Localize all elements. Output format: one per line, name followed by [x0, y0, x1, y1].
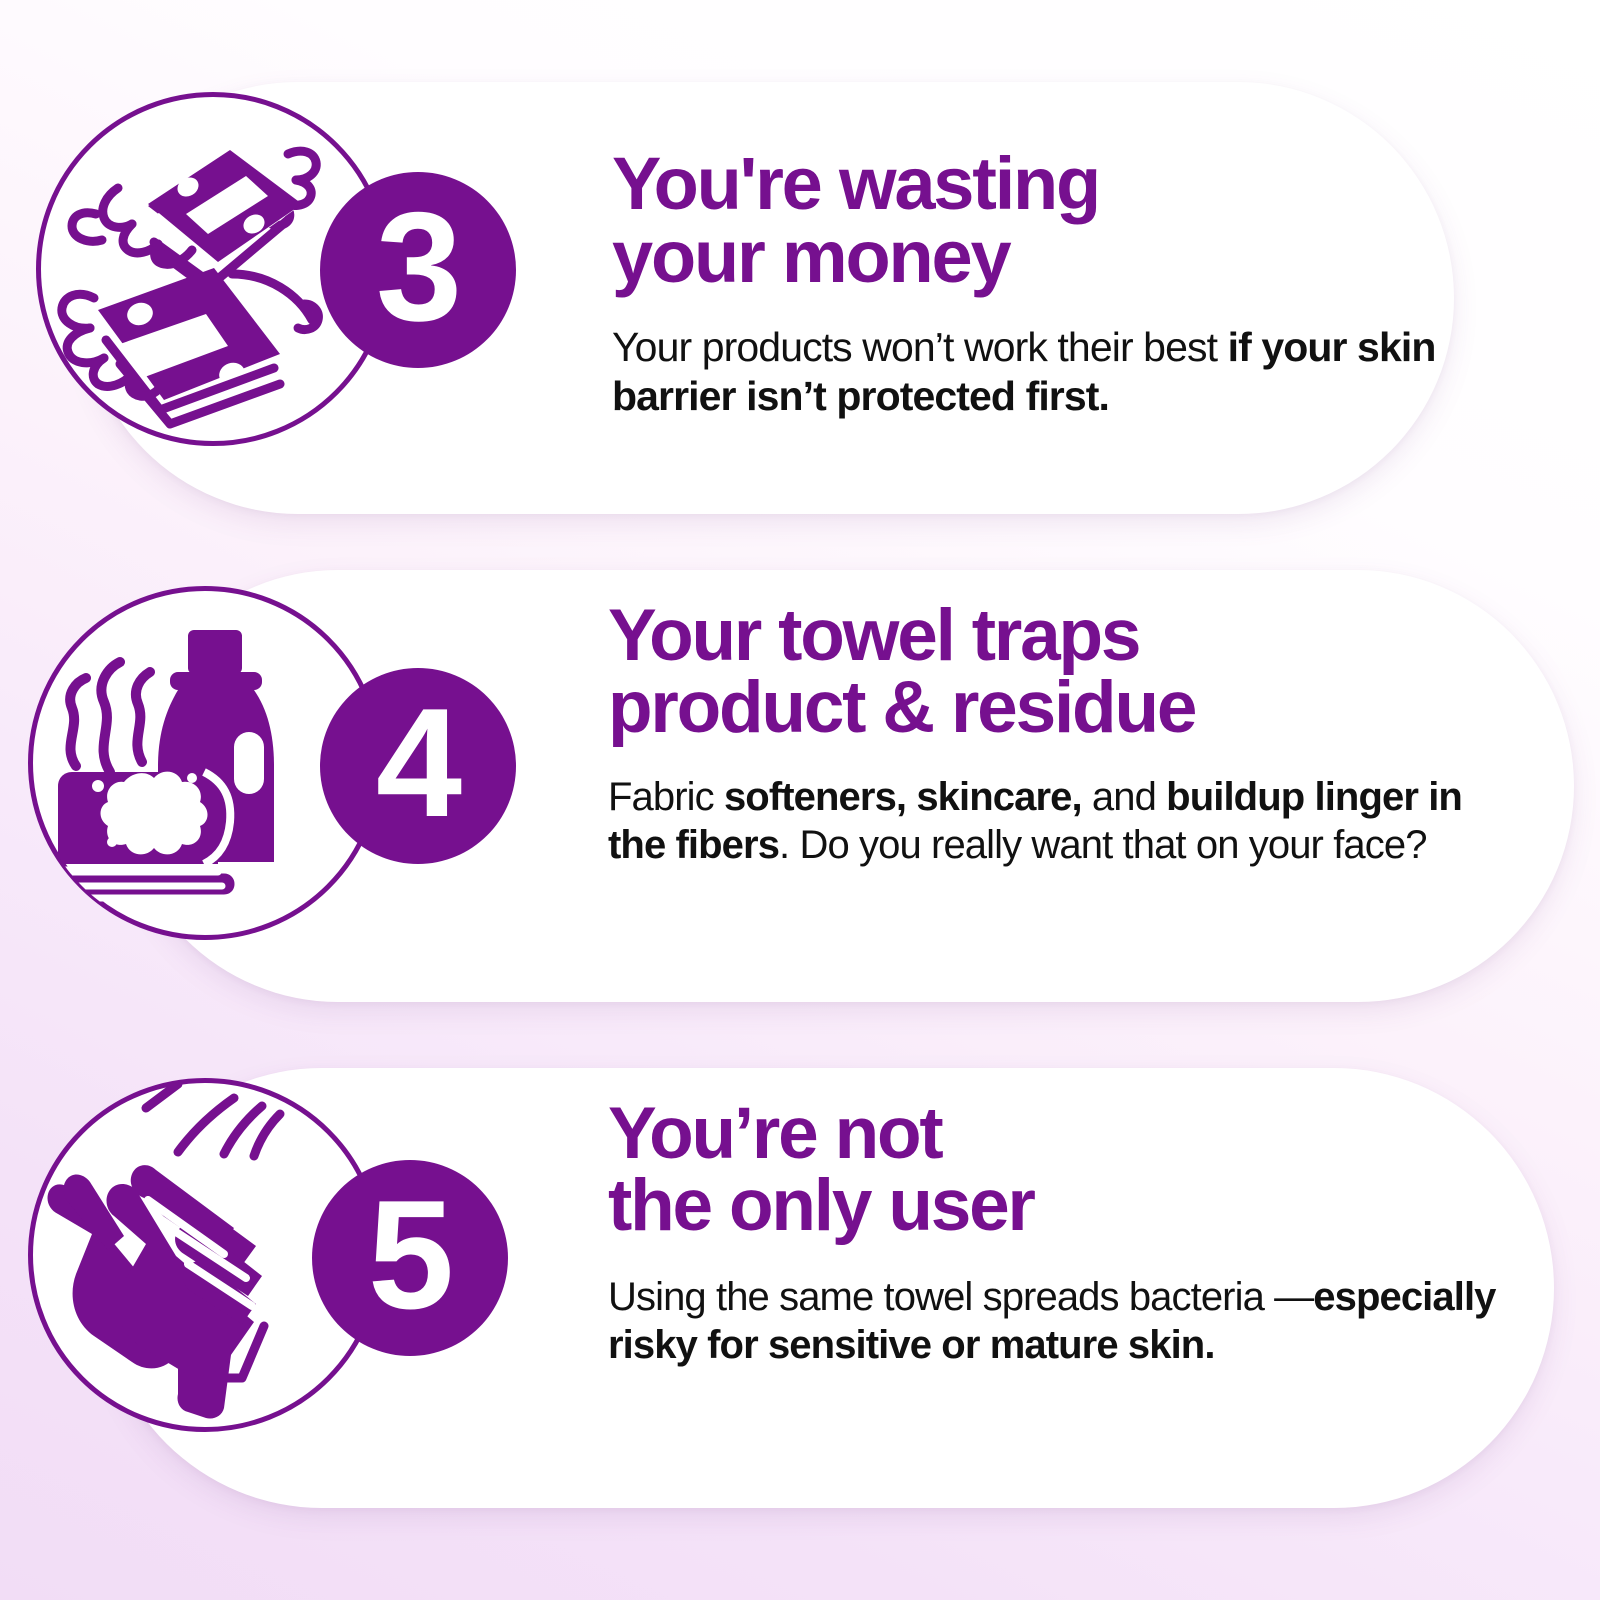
number-badge-5: 5 [312, 1160, 508, 1356]
headline-5: You’re not the only user [608, 1098, 1508, 1241]
body-3: Your products won’t work their best if y… [612, 323, 1492, 421]
number-badge-4: 4 [320, 668, 516, 864]
infographic-canvas: 3 You're wasting your money Your product… [0, 0, 1600, 1600]
reason-text-5: You’re not the only user Using the same … [608, 1098, 1508, 1369]
reason-text-4: Your towel traps product & residue Fabri… [608, 600, 1508, 869]
badge-number: 3 [376, 189, 460, 344]
body-5: Using the same towel spreads bacteria —e… [608, 1273, 1508, 1369]
badge-number: 4 [376, 685, 460, 840]
headline-3: You're wasting your money [612, 148, 1492, 293]
headline-4: Your towel traps product & residue [608, 600, 1508, 743]
body-4: Fabric softeners, skincare, and buildup … [608, 773, 1508, 869]
badge-number: 5 [368, 1177, 452, 1332]
reason-text-3: You're wasting your money Your products … [612, 148, 1492, 421]
number-badge-3: 3 [320, 172, 516, 368]
